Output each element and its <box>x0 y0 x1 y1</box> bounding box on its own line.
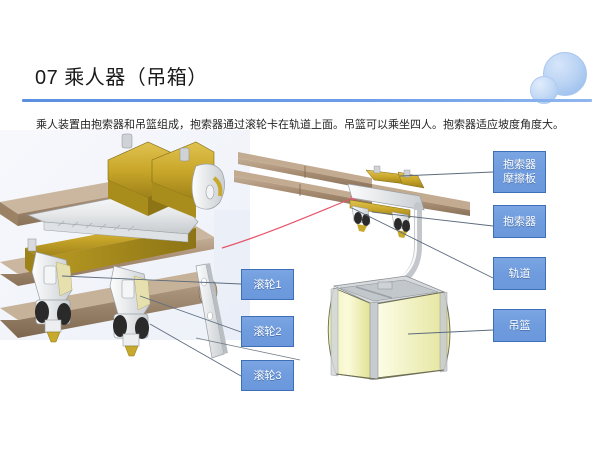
callout-roller2-label: 滚轮2 <box>253 325 281 339</box>
slide-canvas: 07 乘人器（吊箱） 乘人装置由抱索器和吊篮组成，抱索器通过滚轮卡在轨道上面。吊… <box>0 0 600 450</box>
callout-track-label: 轨道 <box>509 267 531 281</box>
callout-gripper-label: 抱索器 <box>503 215 536 229</box>
callout-gripper[interactable]: 抱索器 <box>493 205 546 238</box>
callout-friction-plate[interactable]: 抱索器 摩擦板 <box>493 151 546 193</box>
callout-friction-line2: 摩擦板 <box>503 172 536 186</box>
callout-roller-1[interactable]: 滚轮1 <box>241 269 294 300</box>
page-title: 07 乘人器（吊箱） <box>35 61 208 90</box>
callout-track[interactable]: 轨道 <box>493 257 546 290</box>
gondola-cabin <box>328 276 450 380</box>
callout-cabin[interactable]: 吊篮 <box>493 309 546 342</box>
callout-roller3-label: 滚轮3 <box>253 369 281 383</box>
title-divider <box>22 99 592 102</box>
callout-roller-3[interactable]: 滚轮3 <box>241 360 294 391</box>
callout-cabin-label: 吊篮 <box>509 319 531 333</box>
callout-roller1-label: 滚轮1 <box>253 278 281 292</box>
callout-friction-line1: 抱索器 <box>503 158 536 172</box>
callout-roller-2[interactable]: 滚轮2 <box>241 316 294 347</box>
